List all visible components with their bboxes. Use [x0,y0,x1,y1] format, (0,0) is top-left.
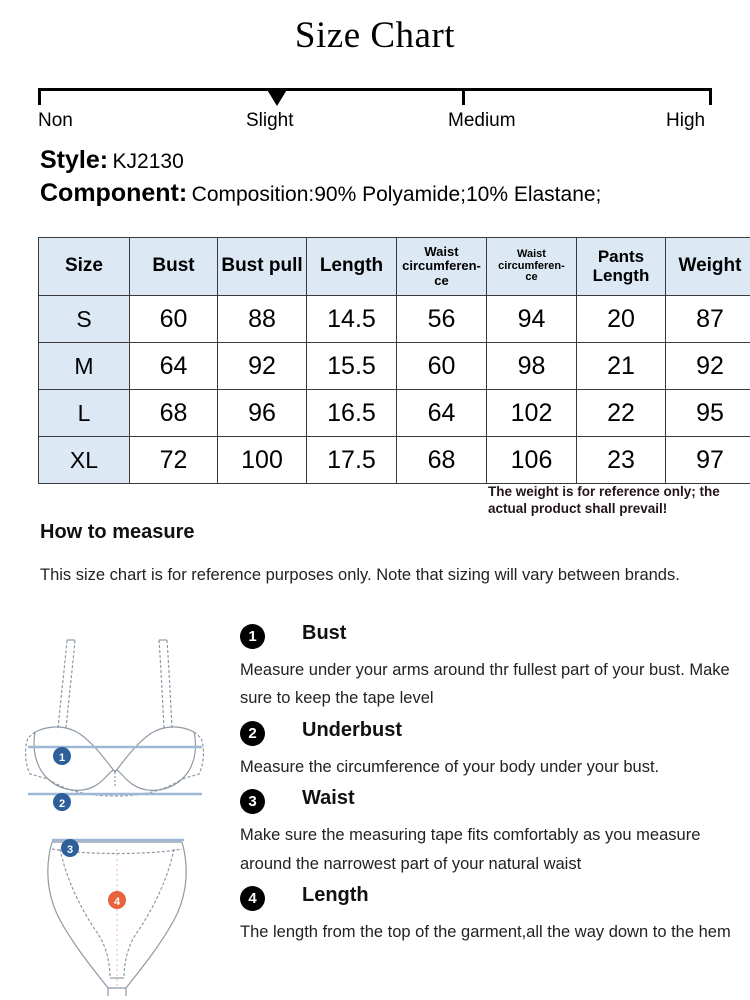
waist-header-line1: Waist [424,244,458,259]
measure-step-bust: 1 Bust Measure under your arms around th… [240,622,740,713]
step-description: Make sure the measuring tape fits comfor… [240,821,740,878]
size-table: Size Bust Bust pull Length Waist circumf… [38,237,750,484]
table-row: S 60 88 14.5 56 94 20 87 [39,296,750,343]
svg-text:4: 4 [114,896,121,908]
component-label: Component: [40,179,187,207]
waist-header-line2: circumferen- [402,258,481,273]
cell-bust: 72 [130,437,218,484]
pants-header-line2: Length [593,266,650,285]
step-header: 1 Bust [240,622,740,656]
step-number-badge: 3 [240,789,265,814]
waist2-header-line2: ce [525,271,537,283]
table-row: L 68 96 16.5 64 102 22 95 [39,390,750,437]
cell-weight: 87 [666,296,750,343]
stretch-scale-line [38,88,712,91]
column-header-waist-circumference: Waist circumferen- ce [397,238,487,296]
cell-waist-circumference-2: 98 [487,343,577,390]
stretch-scale-labels: Non Slight Medium High [38,110,712,134]
step-title: Bust [302,622,346,645]
column-header-size: Size [39,238,130,296]
step-header: 3 Waist [240,787,740,821]
svg-text:3: 3 [67,844,73,856]
column-header-waist-circumference-2: Waist circumferen- ce [487,238,577,296]
cell-size: M [39,343,130,390]
step-title: Waist [302,787,355,810]
cell-waist-circumference: 56 [397,296,487,343]
garment-illustrations: 1 2 3 [22,616,232,996]
cell-weight: 92 [666,343,750,390]
table-header-row: Size Bust Bust pull Length Waist circumf… [39,238,750,296]
column-header-weight: Weight [666,238,750,296]
stretch-tick-non [38,88,41,105]
cell-bust-pull: 96 [218,390,307,437]
cell-pants-length: 23 [577,437,666,484]
measure-step-underbust: 2 Underbust Measure the circumference of… [240,719,740,781]
cell-length: 16.5 [307,390,397,437]
cell-weight: 97 [666,437,750,484]
stretch-label-non: Non [38,110,73,132]
how-to-measure-heading: How to measure [40,521,194,544]
cell-weight: 95 [666,390,750,437]
step-header: 2 Underbust [240,719,740,753]
panty-marker-4: 4 [108,891,126,909]
cell-pants-length: 20 [577,296,666,343]
page-title: Size Chart [0,14,750,57]
step-title: Length [302,884,369,907]
column-header-length: Length [307,238,397,296]
measure-step-waist: 3 Waist Make sure the measuring tape fit… [240,787,740,878]
step-title: Underbust [302,719,402,742]
cell-pants-length: 22 [577,390,666,437]
cell-length: 15.5 [307,343,397,390]
cell-length: 14.5 [307,296,397,343]
stretch-scale: Non Slight Medium High [38,88,712,134]
style-label: Style: [40,146,108,174]
cell-size: L [39,390,130,437]
cell-waist-circumference-2: 106 [487,437,577,484]
table-row: XL 72 100 17.5 68 106 23 97 [39,437,750,484]
how-to-measure-subtext: This size chart is for reference purpose… [40,566,730,585]
cell-bust-pull: 92 [218,343,307,390]
svg-text:1: 1 [59,752,65,764]
measure-step-length: 4 Length The length from the top of the … [240,884,740,946]
column-header-bust-pull: Bust pull [218,238,307,296]
panty-diagram [48,842,186,996]
cell-size: S [39,296,130,343]
step-description: Measure under your arms around thr fulle… [240,656,740,713]
cell-bust: 68 [130,390,218,437]
step-number-badge: 2 [240,721,265,746]
stretch-label-medium: Medium [448,110,516,132]
step-number-badge: 1 [240,624,265,649]
step-description: Measure the circumference of your body u… [240,753,740,781]
stretch-tick-high [709,88,712,105]
stretch-label-high: High [666,110,705,132]
waist-header-line3: ce [434,273,448,288]
cell-bust: 64 [130,343,218,390]
bra-marker-2: 2 [53,793,71,811]
table-row: M 64 92 15.5 60 98 21 92 [39,343,750,390]
cell-waist-circumference-2: 102 [487,390,577,437]
stretch-label-slight: Slight [246,110,294,132]
stretch-tick-medium [462,88,465,105]
down-triangle-marker-icon [266,88,288,106]
bra-diagram [26,640,204,796]
step-number-badge: 4 [240,886,265,911]
pants-header-line1: Pants [598,247,644,266]
step-header: 4 Length [240,884,740,918]
waist2-header-line1: Waist circumferen- [498,248,565,272]
cell-bust: 60 [130,296,218,343]
cell-waist-circumference: 64 [397,390,487,437]
garment-diagrams-svg: 1 2 3 [22,616,232,996]
size-table-header: Size Bust Bust pull Length Waist circumf… [39,238,750,296]
column-header-pants-length: Pants Length [577,238,666,296]
cell-waist-circumference: 68 [397,437,487,484]
cell-pants-length: 21 [577,343,666,390]
step-description: The length from the top of the garment,a… [240,918,740,946]
cell-size: XL [39,437,130,484]
column-header-bust: Bust [130,238,218,296]
style-value: KJ2130 [113,150,184,173]
svg-text:2: 2 [59,798,65,810]
measure-steps: 1 Bust Measure under your arms around th… [240,622,740,950]
size-table-body: S 60 88 14.5 56 94 20 87 M 64 92 15.5 60… [39,296,750,484]
panty-marker-3: 3 [61,839,79,857]
cell-bust-pull: 88 [218,296,307,343]
cell-length: 17.5 [307,437,397,484]
cell-waist-circumference: 60 [397,343,487,390]
cell-waist-circumference-2: 94 [487,296,577,343]
bra-marker-1: 1 [53,747,71,765]
component-value: Composition:90% Polyamide;10% Elastane; [192,183,602,206]
weight-disclaimer: The weight is for reference only; the ac… [488,483,738,518]
cell-bust-pull: 100 [218,437,307,484]
